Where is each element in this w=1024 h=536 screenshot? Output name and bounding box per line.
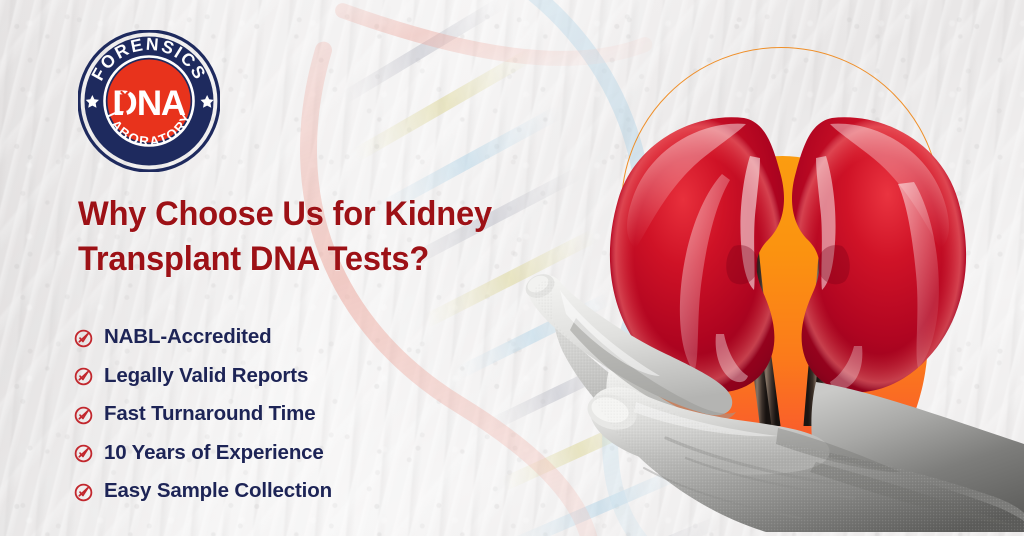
list-item-label: NABL-Accredited: [104, 325, 271, 349]
check-circle-icon: [74, 329, 93, 348]
list-item: Fast Turnaround Time: [74, 395, 332, 434]
check-circle-icon: [74, 444, 93, 463]
headline-line-2: Transplant DNA Tests?: [78, 237, 522, 282]
headline-line-1: Why Choose Us for Kidney: [78, 195, 492, 233]
logo-dna-wordmark: D N A: [112, 84, 186, 123]
list-item-label: 10 Years of Experience: [104, 441, 324, 465]
check-circle-icon: [74, 367, 93, 386]
svg-text:A: A: [161, 84, 186, 123]
list-item-label: Easy Sample Collection: [104, 479, 332, 503]
check-circle-icon: [74, 483, 93, 502]
open-hand-illustration: [516, 232, 1024, 532]
features-list: NABL-Accredited Legally Valid Reports: [74, 318, 332, 511]
list-item: 10 Years of Experience: [74, 434, 332, 473]
list-item: Legally Valid Reports: [74, 357, 332, 396]
svg-text:N: N: [137, 84, 162, 123]
page-title: Why Choose Us for Kidney Transplant DNA …: [78, 192, 522, 282]
banner-root: FORENSICS LABORATORY D N A: [0, 0, 1024, 536]
list-item: Easy Sample Collection: [74, 472, 332, 511]
list-item-label: Fast Turnaround Time: [104, 402, 316, 426]
list-item: NABL-Accredited: [74, 318, 332, 357]
list-item-label: Legally Valid Reports: [104, 364, 308, 388]
check-circle-icon: [74, 406, 93, 425]
forensics-dna-laboratory-logo: FORENSICS LABORATORY D N A: [78, 30, 220, 172]
